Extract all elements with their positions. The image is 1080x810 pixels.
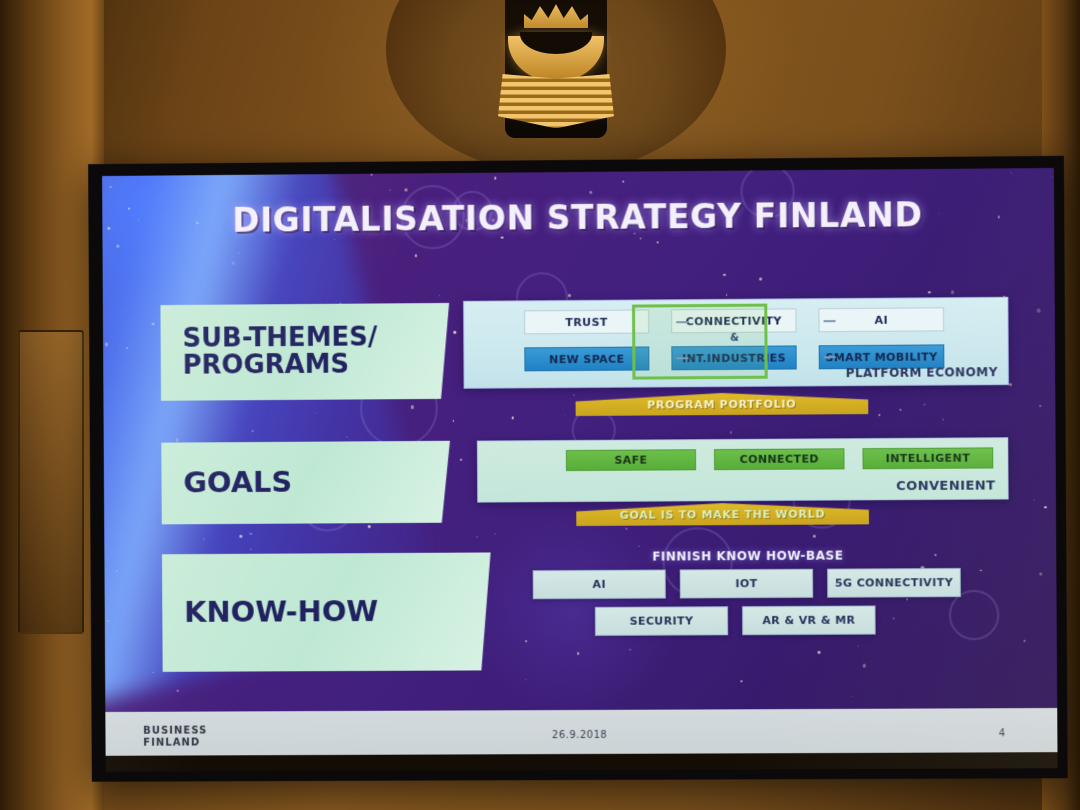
light-speckle	[943, 419, 945, 421]
knowhow-row-2: SECURITY AR & VR & MR	[595, 606, 876, 636]
light-speckle	[573, 394, 574, 395]
light-speckle	[951, 291, 954, 294]
light-speckle	[639, 237, 641, 239]
light-speckle	[726, 294, 727, 295]
light-speckle	[1010, 172, 1012, 174]
light-speckle	[622, 180, 624, 182]
light-speckle	[813, 535, 816, 538]
knowhow-row-1: AI IOT 5G CONNECTIVITY	[533, 568, 961, 599]
light-speckle	[452, 420, 453, 421]
knowhow-cell-5g-connectivity[interactable]: 5G CONNECTIVITY	[827, 568, 961, 598]
light-speckle	[923, 404, 925, 406]
projector-screen-frame: DIGITALISATION STRATEGY FINLAND SUB-THEM…	[88, 156, 1068, 782]
light-speckle	[389, 189, 390, 190]
slide-title: DIGITALISATION STRATEGY FINLAND	[102, 194, 1054, 241]
light-speckle	[625, 528, 627, 530]
footer-date: 26.9.2018	[105, 728, 1057, 743]
light-speckle	[568, 294, 571, 297]
row-label-subthemes-line2: PROGRAMS	[183, 351, 378, 379]
light-speckle	[1009, 383, 1012, 386]
knowhow-cell-iot[interactable]: IOT	[680, 569, 814, 599]
light-speckle	[1033, 499, 1034, 500]
light-speckle	[1044, 506, 1046, 508]
light-speckle	[476, 536, 478, 538]
light-speckle	[906, 599, 907, 600]
light-speckle	[315, 412, 316, 413]
light-speckle	[105, 343, 108, 346]
light-speckle	[893, 617, 895, 619]
row-label-goals: GOALS	[161, 441, 450, 525]
light-speckle	[577, 652, 580, 655]
light-speckle	[1039, 573, 1042, 576]
light-speckle	[740, 681, 742, 683]
light-speckle	[564, 415, 565, 416]
light-speckle	[494, 177, 496, 179]
highlight-box-center-column	[632, 304, 768, 380]
light-speckle	[368, 525, 371, 528]
footer-page-number: 4	[999, 728, 1005, 739]
goal-cell-safe[interactable]: SAFE	[566, 449, 696, 471]
row-label-knowhow: KNOW-HOW	[162, 552, 491, 671]
light-speckle	[638, 546, 639, 547]
row-label-subthemes: SUB-THEMES/ PROGRAMS	[160, 303, 449, 401]
knowhow-cell-ar-vr-mr[interactable]: AR & VR & MR	[742, 606, 876, 636]
knowhow-cell-ai[interactable]: AI	[533, 570, 666, 600]
light-speckle	[453, 331, 456, 334]
knowhow-heading: FINNISH KNOW HOW-BASE	[533, 548, 964, 564]
light-speckle	[439, 295, 440, 296]
light-speckle	[176, 439, 179, 442]
light-speckle	[415, 255, 417, 257]
light-speckle	[878, 414, 880, 416]
light-speckle	[899, 409, 901, 411]
light-speckle	[251, 430, 253, 432]
light-speckle	[176, 689, 178, 691]
light-speckle	[857, 646, 858, 647]
connector-dash-bottom-right	[824, 356, 836, 358]
light-speckle	[980, 569, 982, 571]
convenient-label: CONVENIENT	[896, 478, 995, 494]
subtheme-cell-ai[interactable]: AI	[818, 307, 944, 332]
row-label-subthemes-line1: SUB-THEMES/	[182, 325, 377, 353]
light-speckle	[1037, 309, 1040, 312]
light-speckle	[723, 274, 726, 277]
light-speckle	[116, 570, 117, 571]
light-speckle	[1023, 639, 1025, 641]
light-speckle	[852, 696, 853, 697]
light-speckle	[404, 189, 407, 192]
light-speckle	[512, 416, 514, 418]
goal-cell-connected[interactable]: CONNECTED	[714, 448, 845, 470]
light-speckle	[1040, 405, 1041, 406]
light-speckle	[730, 431, 732, 433]
light-speckle	[238, 253, 239, 254]
light-speckle	[152, 323, 154, 325]
knowhow-cell-security[interactable]: SECURITY	[595, 606, 728, 636]
light-speckle	[928, 291, 931, 294]
light-speckle	[109, 186, 112, 189]
goals-panel: SAFE CONNECTED INTELLIGENT CONVENIENT	[477, 437, 1009, 502]
light-speckle	[126, 347, 128, 349]
light-speckle	[346, 437, 347, 438]
subtheme-cell-new-space[interactable]: NEW SPACE	[524, 346, 649, 371]
light-speckle	[525, 640, 527, 642]
light-speckle	[1051, 175, 1053, 177]
subthemes-panel: TRUST CONNECTIVITY AI & NEW SPACE INT.IN…	[463, 297, 1009, 389]
light-speckle	[370, 174, 372, 176]
light-speckle	[525, 679, 526, 680]
goals-row: SAFE CONNECTED INTELLIGENT	[566, 447, 993, 471]
light-speckle	[108, 620, 109, 621]
light-speckle	[589, 190, 592, 193]
light-speckle	[411, 405, 414, 408]
light-speckle	[203, 538, 205, 540]
light-speckle	[250, 533, 253, 536]
presentation-slide: DIGITALISATION STRATEGY FINLAND SUB-THEM…	[102, 168, 1057, 712]
light-speckle	[494, 533, 495, 534]
subtheme-cell-trust[interactable]: TRUST	[524, 309, 649, 334]
light-speckle	[240, 535, 242, 537]
light-speckle	[250, 549, 251, 550]
light-speckle	[629, 649, 631, 651]
light-speckle	[152, 672, 153, 673]
light-speckle	[116, 245, 119, 248]
light-speckle	[657, 241, 659, 243]
wall-panel-left	[0, 0, 104, 810]
screen-bottom-edge	[106, 752, 1058, 772]
light-speckle	[759, 277, 762, 280]
connector-dash-top-right	[824, 320, 836, 322]
light-speckle	[863, 664, 866, 667]
goal-cell-intelligent[interactable]: INTELLIGENT	[862, 447, 993, 469]
light-speckle	[232, 262, 235, 265]
projector-screen-surface: DIGITALISATION STRATEGY FINLAND SUB-THEM…	[102, 168, 1058, 772]
light-speckle	[460, 459, 462, 461]
platform-economy-label: PLATFORM ECONOMY	[846, 365, 998, 380]
light-speckle	[818, 651, 820, 653]
